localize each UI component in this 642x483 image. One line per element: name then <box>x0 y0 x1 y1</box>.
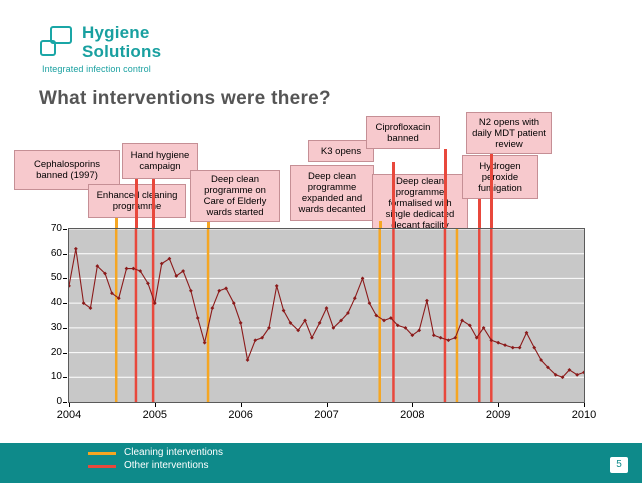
x-tick-mark <box>498 403 499 407</box>
x-tick-label: 2007 <box>302 410 352 421</box>
callout-deep-clean-formalised: Deep clean programme formalised with sin… <box>372 174 468 233</box>
intervention-marker-stem <box>135 179 138 228</box>
series-point <box>217 289 221 293</box>
y-tick-label: 70 <box>32 224 62 234</box>
y-tick-label: 60 <box>32 249 62 259</box>
chart-plot-area <box>68 228 585 403</box>
chart-legend: Cleaning interventions Other interventio… <box>88 447 388 477</box>
logo-name-line1: Hygiene <box>82 23 150 42</box>
series-point <box>425 299 429 303</box>
series-point <box>224 286 228 290</box>
series-point <box>69 284 71 288</box>
page-title: What interventions were there? <box>39 88 331 110</box>
series-point <box>353 296 357 300</box>
legend-swatch-cleaning <box>88 452 116 455</box>
x-tick-mark <box>155 403 156 407</box>
series-point <box>125 267 129 271</box>
series-point <box>325 306 329 310</box>
series-point <box>253 338 257 342</box>
y-tick-label: 40 <box>32 298 62 308</box>
series-point <box>503 343 507 347</box>
series-point <box>496 341 500 345</box>
series-point <box>432 333 436 337</box>
series-point <box>203 341 207 345</box>
y-tick-mark <box>63 229 67 230</box>
y-tick-mark <box>63 303 67 304</box>
callout-hand-hygiene: Hand hygiene campaign <box>122 143 198 179</box>
x-tick-label: 2005 <box>130 410 180 421</box>
logo-name-line2: Solutions <box>82 43 161 60</box>
series-point <box>239 321 243 325</box>
intervention-marker-stem <box>444 149 447 228</box>
x-tick-mark <box>327 403 328 407</box>
x-tick-label: 2006 <box>216 410 266 421</box>
y-tick-label: 10 <box>32 372 62 382</box>
y-tick-label: 20 <box>32 348 62 358</box>
callout-ciprofloxacin: Ciprofloxacin banned <box>366 116 440 149</box>
callout-deep-clean-expanded: Deep clean programme expanded and wards … <box>290 165 374 221</box>
intervention-marker-stem <box>152 179 155 228</box>
x-tick-mark <box>241 403 242 407</box>
intervention-marker-stem <box>478 199 481 228</box>
series-point <box>518 346 522 350</box>
y-tick-mark <box>63 254 67 255</box>
y-tick-mark <box>63 328 67 329</box>
series-point <box>511 346 515 350</box>
x-tick-label: 2004 <box>44 410 94 421</box>
slide-number: 5 <box>610 457 628 473</box>
legend-label-other: Other interventions <box>124 460 209 471</box>
legend-item-cleaning: Cleaning interventions <box>88 447 388 460</box>
intervention-marker-stem <box>379 221 382 228</box>
series-line <box>69 249 584 378</box>
series-point <box>246 358 250 362</box>
y-tick-mark <box>63 353 67 354</box>
x-tick-mark <box>69 403 70 407</box>
y-tick-mark <box>63 402 67 403</box>
logo-wordmark: Hygiene Solutions <box>82 24 161 60</box>
legend-swatch-other <box>88 465 116 468</box>
chart-svg <box>69 229 584 402</box>
series-point <box>525 331 529 335</box>
series-point <box>210 306 214 310</box>
footer-bar: Cleaning interventions Other interventio… <box>0 443 642 483</box>
y-tick-label: 50 <box>32 273 62 283</box>
logo-tagline: Integrated infection control <box>42 64 151 74</box>
y-tick-label: 0 <box>32 397 62 407</box>
company-logo: Hygiene Solutions Integrated infection c… <box>40 24 210 74</box>
series-point <box>582 370 584 374</box>
series-point <box>361 277 365 281</box>
series-point <box>189 289 193 293</box>
y-tick-mark <box>63 278 67 279</box>
series-point <box>310 336 314 340</box>
series-point <box>446 338 450 342</box>
series-point <box>232 301 236 305</box>
x-tick-label: 2009 <box>473 410 523 421</box>
x-tick-label: 2008 <box>387 410 437 421</box>
x-tick-mark <box>584 403 585 407</box>
callout-k3-opens: K3 opens <box>308 140 374 162</box>
legend-label-cleaning: Cleaning interventions <box>124 447 223 458</box>
series-point <box>439 336 443 340</box>
x-tick-mark <box>412 403 413 407</box>
legend-item-other: Other interventions <box>88 460 388 473</box>
intervention-marker-stem <box>207 222 210 228</box>
x-tick-label: 2010 <box>559 410 609 421</box>
series-point <box>275 284 279 288</box>
series-point <box>74 247 78 251</box>
callout-hydrogen-peroxide: Hydrogen peroxide fumigation <box>462 155 538 199</box>
callout-n2-opens: N2 opens with daily MDT patient review <box>466 112 552 154</box>
callout-deep-clean-coe: Deep clean programme on Care of Elderly … <box>190 170 280 222</box>
logo-mark-icon <box>40 26 76 62</box>
intervention-marker-stem <box>115 218 118 228</box>
intervention-marker-stem <box>490 154 493 228</box>
series-point <box>318 321 322 325</box>
intervention-marker-stem <box>392 162 395 228</box>
y-tick-mark <box>63 377 67 378</box>
series-point <box>196 316 200 320</box>
y-tick-label: 30 <box>32 323 62 333</box>
